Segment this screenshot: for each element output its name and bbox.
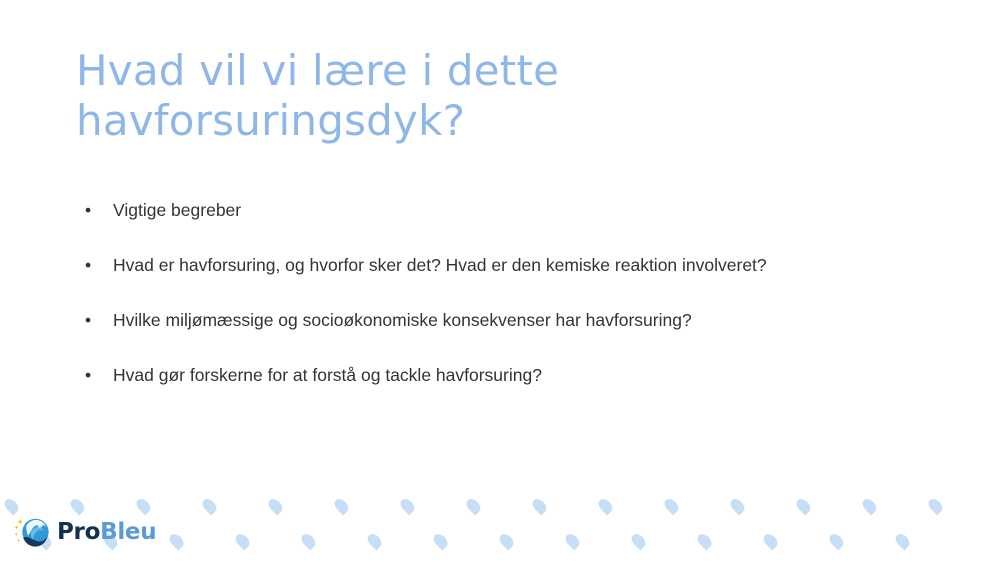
droplet-icon [893,531,912,550]
droplet-icon [464,496,483,515]
bullet-point-icon: • [85,192,97,229]
droplet-icon [662,496,681,515]
bullet-point-icon: • [85,302,97,339]
list-item-text: Hvad gør forskerne for at forstå og tack… [113,357,868,394]
droplet-icon [431,531,450,550]
list-item: • Hvad er havforsuring, og hvorfor sker … [78,247,868,284]
probleu-logo: ProBleu [14,512,156,552]
logo-wordmark: ProBleu [57,521,156,544]
presentation-slide: Hvad vil vi lære i dette havforsuringsdy… [0,0,1000,563]
logo-word-secondary: Bleu [100,519,156,545]
droplet-icon [860,496,879,515]
droplet-icon [596,496,615,515]
list-item: • Vigtige begreber [78,192,868,229]
droplet-icon [926,496,945,515]
droplet-icon [695,531,714,550]
probleu-globe-wave-icon [14,513,52,551]
bullet-list: • Vigtige begreber • Hvad er havforsurin… [78,192,868,394]
list-item-text: Hvad er havforsuring, og hvorfor sker de… [113,247,868,284]
droplet-icon [167,531,186,550]
droplet-icon [266,496,285,515]
droplet-icon [398,496,417,515]
page-title: Hvad vil vi lære i dette havforsuringsdy… [76,46,776,146]
droplet-icon [332,496,351,515]
droplet-icon [761,531,780,550]
bullet-point-icon: • [85,247,97,284]
logo-word-primary: Pro [57,519,100,545]
droplet-icon [200,496,219,515]
list-item: • Hvad gør forskerne for at forstå og ta… [78,357,868,394]
droplet-icon [794,496,813,515]
list-item: • Hvilke miljømæssige og socioøkonomiske… [78,302,868,339]
droplet-icon [530,496,549,515]
list-item-text: Vigtige begreber [113,192,868,229]
list-item-text: Hvilke miljømæssige og socioøkonomiske k… [113,302,868,339]
droplet-icon [365,531,384,550]
bullet-point-icon: • [85,357,97,394]
droplet-icon [563,531,582,550]
droplet-icon [299,531,318,550]
droplet-icon [497,531,516,550]
droplet-icon [233,531,252,550]
droplet-icon [827,531,846,550]
droplet-icon [728,496,747,515]
droplet-icon [629,531,648,550]
